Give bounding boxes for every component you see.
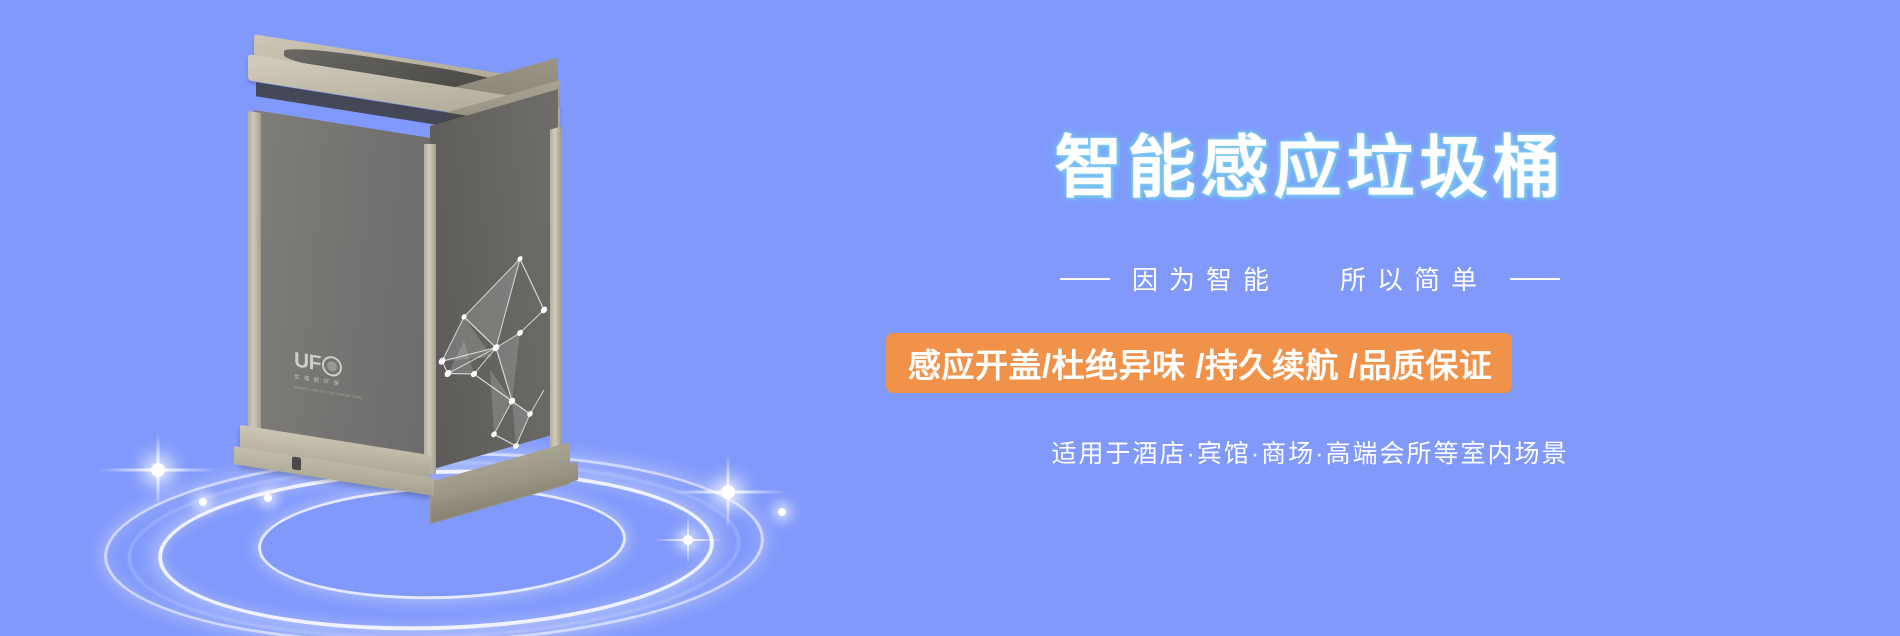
scene-line: 适用于酒店·宾馆·商场·高端会所等室内场景 [860,434,1760,470]
sparkle-ray-vertical [157,432,160,508]
sparkle-core [683,535,693,545]
feature-bar: 感应开盖/杜绝异味 /持久续航 /品质保证 [886,333,1512,393]
sparkle-core [721,485,735,499]
trash-bin-product: UF 优 福 欧 环 保 SMART INDUCTION TRASH CAN [198,58,648,498]
sparkle-ray-horizontal [653,539,723,541]
bin-face-left [254,110,430,476]
feature-bar-text: 感应开盖/杜绝异味 /持久续航 /品质保证 [908,339,1492,387]
sparkle-ray-vertical [687,516,689,564]
headline: 智能感应垃圾桶 [860,133,1760,204]
sparkle-ray-vertical [727,454,730,530]
brand-logo-letters: UF [294,349,321,374]
sparkle-core [778,508,786,516]
bin-corner-pillar-left [248,111,261,453]
promo-text-block: 智能感应垃圾桶 因为智能 所以简单 感应开盖/杜绝异味 /持久续航 /品质保证 … [860,0,1900,636]
subheadline: 因为智能 所以简单 [860,260,1760,297]
sparkle-core [199,498,207,506]
sparkle-ray-horizontal [669,491,787,494]
promo-banner: UF 优 福 欧 环 保 SMART INDUCTION TRASH CAN [0,0,1900,636]
subheadline-rule-right [1510,278,1560,280]
sparkle-core [151,463,165,477]
subheadline-text-b: 所以简单 [1340,260,1488,297]
subheadline-rule-left [1060,278,1110,280]
product-scene: UF 优 福 欧 环 保 SMART INDUCTION TRASH CAN [0,0,860,636]
brand-logo-ring-icon [322,354,342,377]
bin-base-slot [292,456,301,470]
subheadline-text-a: 因为智能 [1132,260,1280,297]
